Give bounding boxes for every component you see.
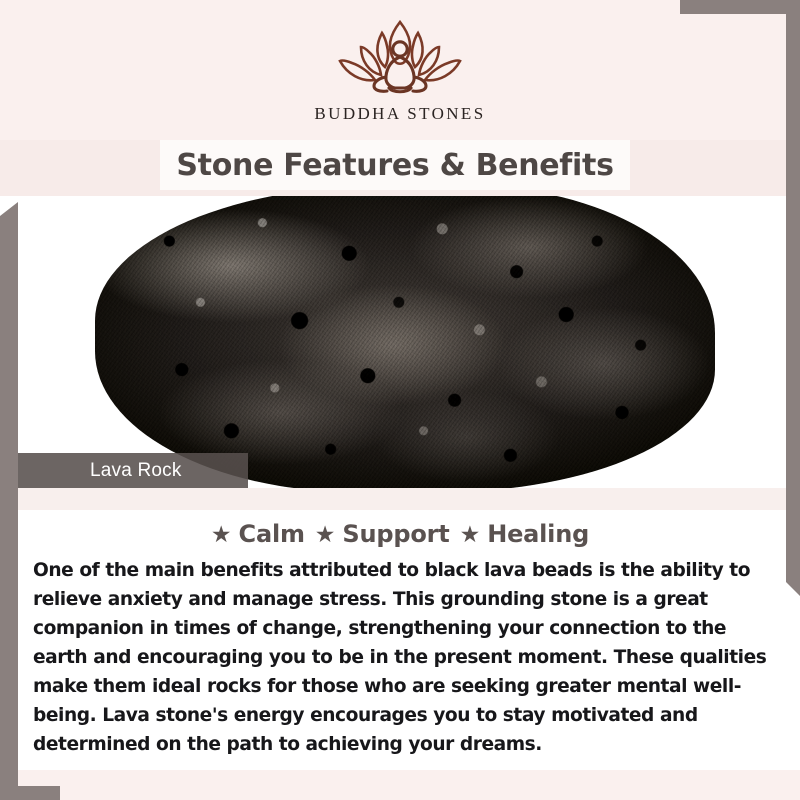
photo-caption-bar: Lava Rock <box>18 453 248 488</box>
star-icon: ★ <box>460 523 481 546</box>
lava-rock-photo <box>0 192 800 488</box>
benefit-label: Healing <box>487 520 589 548</box>
frame-corner-top-right <box>680 0 800 14</box>
content-section: ★ Calm ★ Support ★ Healing One of the ma… <box>0 510 800 770</box>
description-paragraph: One of the main benefits attributed to b… <box>0 556 800 759</box>
title-panel: Stone Features & Benefits <box>160 140 630 190</box>
star-icon: ★ <box>315 523 336 546</box>
photo-caption-label: Lava Rock <box>18 460 182 482</box>
header: BUDDHA STONES <box>0 0 800 140</box>
frame-corner-bottom-left <box>0 786 60 800</box>
benefit-item-support: ★ Support <box>315 520 450 548</box>
benefit-label: Support <box>342 520 449 548</box>
star-icon: ★ <box>211 523 232 546</box>
rock-grain-texture <box>95 192 715 488</box>
brand-name: BUDDHA STONES <box>0 104 800 124</box>
stone-benefits-infographic: BUDDHA STONES Stone Features & Benefits … <box>0 0 800 800</box>
section-divider <box>0 488 800 510</box>
benefit-item-calm: ★ Calm <box>211 520 305 548</box>
brand-logo: BUDDHA STONES <box>0 16 800 124</box>
lotus-meditating-figure-icon <box>325 16 475 100</box>
frame-border-left <box>0 202 18 800</box>
frame-border-right <box>786 0 800 596</box>
benefit-item-healing: ★ Healing <box>460 520 590 548</box>
footer-band <box>0 770 800 800</box>
page-title: Stone Features & Benefits <box>176 148 613 183</box>
benefit-label: Calm <box>239 520 305 548</box>
benefits-row: ★ Calm ★ Support ★ Healing <box>0 510 800 548</box>
rock-body <box>95 192 715 488</box>
